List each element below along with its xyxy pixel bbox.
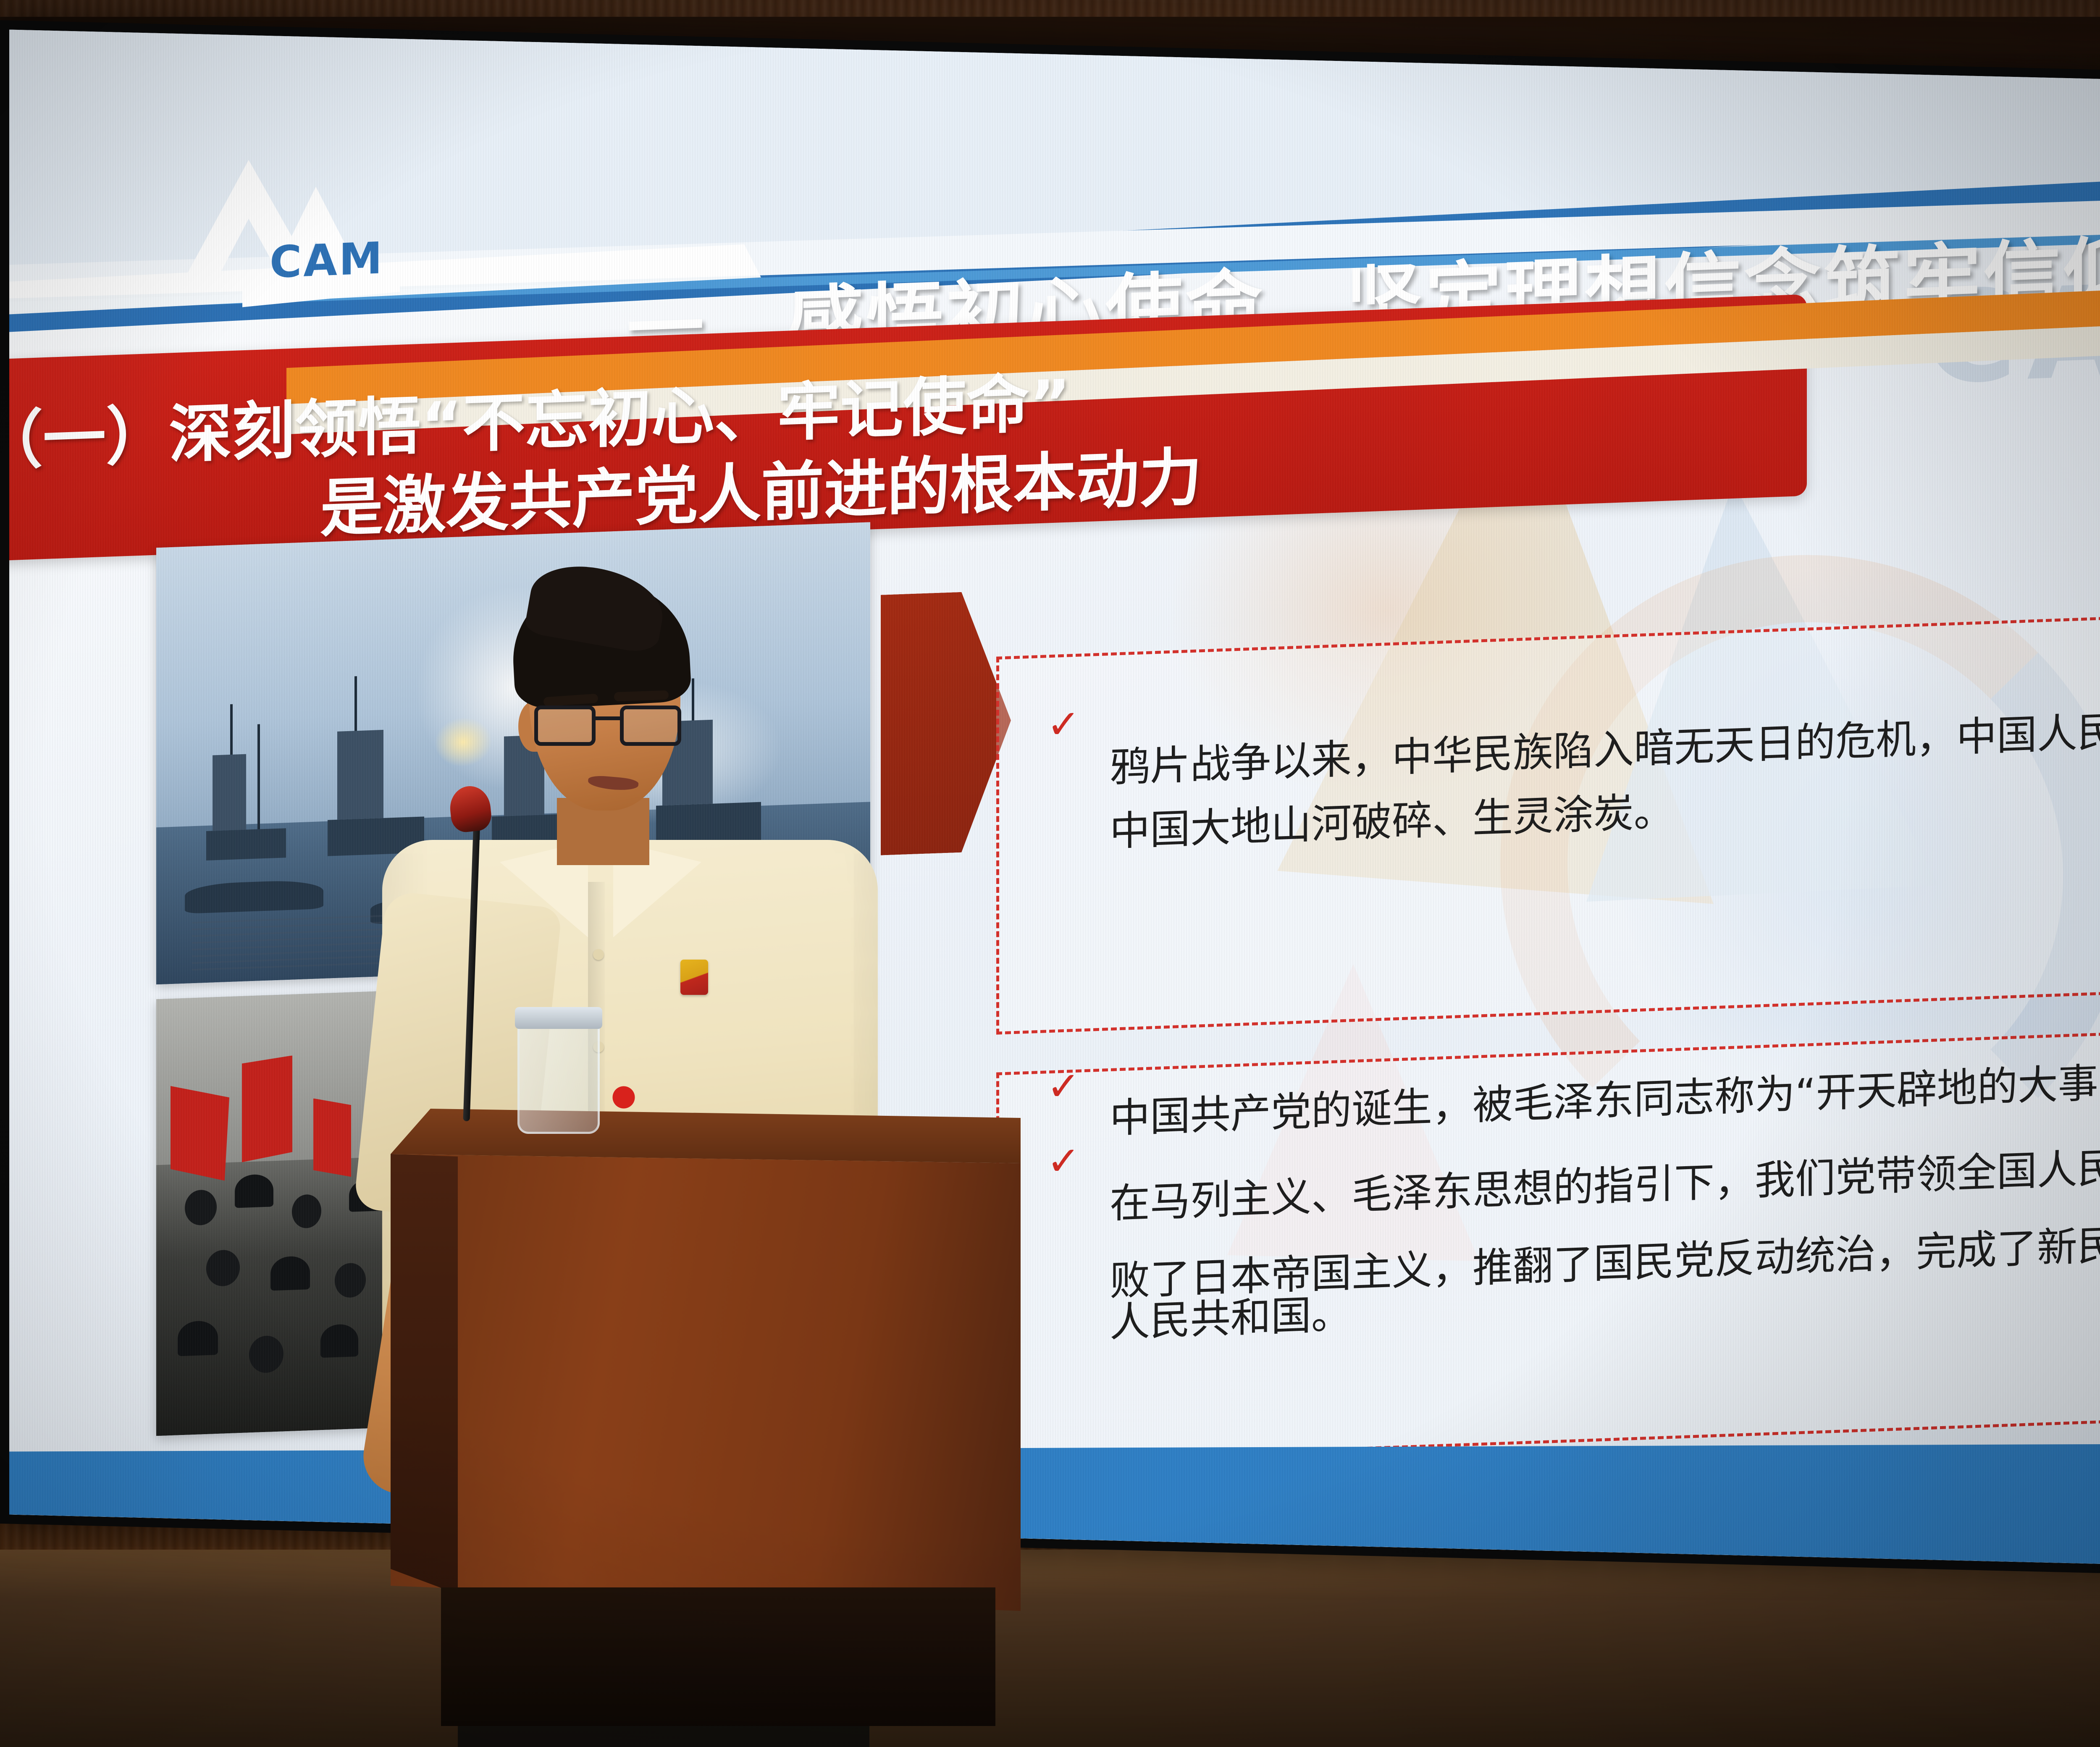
bullet-check-icon: ✓ [1047, 1145, 1083, 1182]
crowd-person [235, 1174, 273, 1208]
naval-ship [206, 828, 286, 860]
bullet-check-icon: ✓ [1047, 708, 1083, 745]
crowd-person [270, 1256, 310, 1291]
speaker-eyebrow-right [614, 690, 669, 702]
red-flag [171, 1084, 229, 1183]
podium-base-shadow [441, 1587, 995, 1726]
podium-emblem [605, 1083, 643, 1112]
projection-screen-frame: CAM CAM 一、感悟初心使命，坚定理想信念筑牢信仰之基 （一）深刻领 [0, 20, 2100, 1580]
podium [391, 1109, 1021, 1722]
cam-logo-icon: CAM [165, 136, 425, 323]
water-glass-lid [515, 1007, 602, 1029]
svg-text:CAM: CAM [270, 232, 384, 288]
cam-logo: CAM [165, 136, 425, 323]
podium-side-panel [391, 1149, 458, 1594]
box2-b2-line-3: 人民共和国。 [1110, 1294, 1352, 1344]
floor [0, 1550, 2100, 1747]
podium-top-surface [391, 1109, 1021, 1163]
water-glass [517, 1016, 600, 1134]
conference-hall-scene: CAM CAM 一、感悟初心使命，坚定理想信念筑牢信仰之基 （一）深刻领 [0, 0, 2100, 1747]
party-emblem-pin-icon [680, 960, 708, 995]
bullet-check-icon: ✓ [1047, 1070, 1083, 1107]
podium-front-panel [391, 1149, 1021, 1611]
red-flag [242, 1055, 292, 1162]
speaker-glasses-icon [534, 706, 681, 752]
speaker-shirt-button [593, 949, 604, 960]
